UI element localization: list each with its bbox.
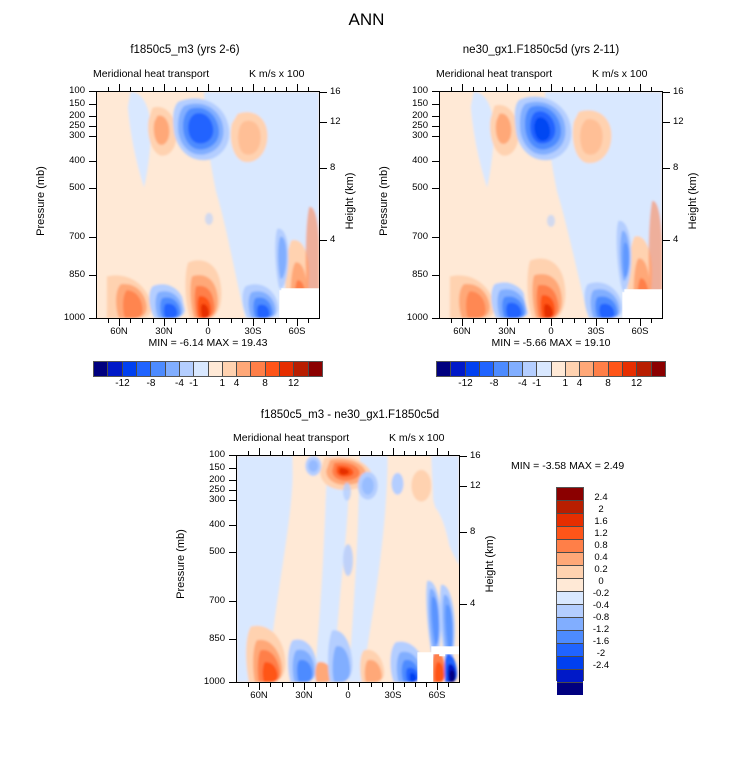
axis-tick-bottom-minor <box>651 319 652 323</box>
ytick-label-pressure: 700 <box>47 231 85 242</box>
ytick-label-pressure: 850 <box>187 633 225 644</box>
axis-tick-bottom-minor <box>585 319 586 323</box>
axis-tick-top-minor <box>473 87 474 91</box>
panel-title-bottom: f1850c5_m3 - ne30_gx1.F1850c5d <box>180 409 520 421</box>
colorbar-cell <box>523 362 537 376</box>
xtick-label-lat: 60S <box>277 326 317 337</box>
axis-tick-top-minor <box>618 87 619 91</box>
colorbar-cell <box>280 362 294 376</box>
colorbar-cell <box>466 362 480 376</box>
axis-tick-top-minor <box>629 87 630 91</box>
xtick-label-lat: 30N <box>487 326 527 337</box>
axis-tick-bottom-minor <box>404 683 405 687</box>
colorbar-cell <box>652 362 665 376</box>
ytick-mark <box>229 601 236 602</box>
colorbar-cell <box>108 362 122 376</box>
axis-tick-top-minor <box>371 451 372 455</box>
colorbar-tick-label: 2.4 <box>586 492 616 503</box>
xtick-label-lat: 60S <box>417 690 457 701</box>
axis-tick-bottom-minor <box>315 683 316 687</box>
xtick-label-lat: 30S <box>233 326 273 337</box>
ytick-mark <box>432 126 439 127</box>
axis-tick-bottom <box>551 319 552 326</box>
axis-tick-bottom-minor <box>270 683 271 687</box>
axis-tick-bottom-minor <box>382 683 383 687</box>
ytick-label-height: 12 <box>470 480 496 491</box>
ytick-mark <box>89 318 96 319</box>
ytick-mark-height <box>663 240 670 241</box>
axis-tick-top-minor <box>651 87 652 91</box>
colorbar-cell <box>557 644 583 657</box>
colorbar-tick-label: 12 <box>617 378 657 389</box>
ytick-mark-height <box>320 240 327 241</box>
axis-tick-top <box>259 448 260 455</box>
colorbar-cell <box>557 540 583 553</box>
axis-tick-bottom-minor <box>130 319 131 323</box>
colorbar-cell <box>594 362 608 376</box>
ytick-mark <box>229 500 236 501</box>
colorbar-labels-top-right: -12-8-4-114812 <box>436 378 666 392</box>
ytick-mark-height <box>460 532 467 533</box>
axis-tick-top-minor <box>562 87 563 91</box>
colorbar-cell <box>266 362 280 376</box>
axis-tick-bottom <box>259 683 260 690</box>
axis-tick-top-minor <box>308 87 309 91</box>
axis-tick-bottom-minor <box>359 683 360 687</box>
axis-tick-top-minor <box>219 87 220 91</box>
colorbar-tick-label: -2 <box>586 648 616 659</box>
axis-tick-top-minor <box>359 451 360 455</box>
axis-tick-bottom <box>119 319 120 326</box>
ytick-mark <box>432 275 439 276</box>
axis-tick-bottom <box>253 319 254 326</box>
ytick-mark <box>229 480 236 481</box>
ytick-mark <box>89 161 96 162</box>
colorbar-cell <box>557 631 583 644</box>
contour-field-top-right <box>440 92 662 318</box>
colorbar-cell <box>623 362 637 376</box>
axis-tick-bottom <box>208 319 209 326</box>
axis-tick-top <box>304 448 305 455</box>
axis-tick-bottom-minor <box>473 319 474 323</box>
colorbar-cell <box>251 362 265 376</box>
colorbar-labels-top-left: -12-8-4-114812 <box>93 378 323 392</box>
axis-tick-top <box>507 84 508 91</box>
colorbar-tick-label: 1.2 <box>586 528 616 539</box>
xtick-label-lat: 0 <box>328 690 368 701</box>
xtick-label-lat: 30N <box>284 690 324 701</box>
axis-tick-bottom <box>462 319 463 326</box>
colorbar-cell <box>557 683 583 695</box>
ytick-mark-height <box>663 92 670 93</box>
axis-tick-bottom-minor <box>562 319 563 323</box>
axis-tick-top-minor <box>485 87 486 91</box>
ytick-label-height: 4 <box>673 234 699 245</box>
axis-tick-bottom <box>348 683 349 690</box>
axis-tick-bottom-minor <box>231 319 232 323</box>
colorbar-tick-label: 0.2 <box>586 564 616 575</box>
axis-tick-top-minor <box>607 87 608 91</box>
axis-tick-top <box>297 84 298 91</box>
ytick-mark-height <box>320 168 327 169</box>
axis-tick-bottom-minor <box>142 319 143 323</box>
colorbar-cell <box>637 362 651 376</box>
axis-tick-bottom-minor <box>371 683 372 687</box>
axis-tick-bottom-minor <box>286 319 287 323</box>
ytick-mark <box>89 188 96 189</box>
panel-subtitle-variable-right: Meridional heat transport <box>436 68 552 80</box>
axis-tick-top <box>551 84 552 91</box>
ytick-mark <box>432 318 439 319</box>
xtick-label-lat: 0 <box>531 326 571 337</box>
ytick-mark-height <box>460 604 467 605</box>
colorbar-cell <box>552 362 566 376</box>
xtick-label-lat: 30S <box>373 690 413 701</box>
axis-tick-top-minor <box>264 87 265 91</box>
ytick-label-pressure: 150 <box>47 98 85 109</box>
colorbar-tick-label: 12 <box>274 378 314 389</box>
colorbar-cell <box>557 514 583 527</box>
ytick-label-pressure: 300 <box>47 130 85 141</box>
panel-subtitle-variable-left: Meridional heat transport <box>93 68 209 80</box>
axis-tick-top-minor <box>337 451 338 455</box>
colorbar-top-right[interactable] <box>436 361 666 377</box>
ytick-label-pressure: 400 <box>187 519 225 530</box>
axis-tick-top-minor <box>496 87 497 91</box>
axis-tick-top-minor <box>382 451 383 455</box>
axis-tick-top <box>208 84 209 91</box>
axis-tick-top-minor <box>326 451 327 455</box>
colorbar-tick-label: -2.4 <box>586 660 616 671</box>
axis-tick-bottom-minor <box>426 683 427 687</box>
axis-tick-top <box>348 448 349 455</box>
ytick-label-pressure: 700 <box>187 595 225 606</box>
axis-tick-top-minor <box>282 451 283 455</box>
colorbar-tick-label: 0.8 <box>586 540 616 551</box>
axis-tick-bottom-minor <box>175 319 176 323</box>
contour-field-bottom <box>237 456 459 682</box>
colorbar-cell <box>209 362 223 376</box>
ytick-label-pressure: 1000 <box>47 312 85 323</box>
ytick-mark <box>229 490 236 491</box>
xtick-label-lat: 60S <box>620 326 660 337</box>
ytick-label-pressure: 500 <box>47 182 85 193</box>
colorbar-tick-label: -0.4 <box>586 600 616 611</box>
axis-tick-bottom <box>297 319 298 326</box>
ytick-mark <box>229 468 236 469</box>
minmax-label-top-left: MIN = -6.14 MAX = 19.43 <box>96 337 320 349</box>
axis-tick-bottom-minor <box>574 319 575 323</box>
axis-tick-top-minor <box>108 87 109 91</box>
colorbar-cell <box>609 362 623 376</box>
axis-tick-bottom-minor <box>337 683 338 687</box>
colorbar-cell <box>557 501 583 514</box>
ytick-label-height: 12 <box>673 116 699 127</box>
colorbar-cell <box>557 579 583 592</box>
ytick-label-height: 8 <box>470 526 496 537</box>
axis-tick-bottom-minor <box>108 319 109 323</box>
axis-tick-bottom-minor <box>219 319 220 323</box>
axis-tick-top-minor <box>186 87 187 91</box>
colorbar-cell <box>580 362 594 376</box>
ytick-label-height: 8 <box>330 162 356 173</box>
colorbar-cell <box>137 362 151 376</box>
axis-tick-top <box>164 84 165 91</box>
axis-tick-top-minor <box>518 87 519 91</box>
ytick-label-pressure: 150 <box>187 462 225 473</box>
ytick-mark <box>229 639 236 640</box>
axis-tick-top <box>640 84 641 91</box>
axis-tick-top-minor <box>529 87 530 91</box>
ytick-mark-height <box>460 486 467 487</box>
axis-tick-bottom-minor <box>197 319 198 323</box>
colorbar-cell <box>480 362 494 376</box>
axis-tick-bottom <box>437 683 438 690</box>
ytick-label-pressure: 1000 <box>390 312 428 323</box>
contour-field-top-left <box>97 92 319 318</box>
colorbar-cell <box>223 362 237 376</box>
colorbar-cell <box>566 362 580 376</box>
ytick-label-height: 8 <box>673 162 699 173</box>
axis-tick-bottom-minor <box>293 683 294 687</box>
ytick-mark <box>432 116 439 117</box>
axis-tick-top-minor <box>175 87 176 91</box>
ytick-label-height: 16 <box>470 450 496 461</box>
axis-tick-bottom <box>164 319 165 326</box>
axis-tick-bottom-minor <box>448 683 449 687</box>
ytick-mark <box>432 161 439 162</box>
colorbar-cell <box>557 553 583 566</box>
axis-tick-top-minor <box>130 87 131 91</box>
colorbar-cell <box>194 362 208 376</box>
axis-tick-bottom-minor <box>275 319 276 323</box>
axis-tick-top-minor <box>451 87 452 91</box>
ytick-label-pressure: 1000 <box>187 676 225 687</box>
ytick-mark-height <box>663 122 670 123</box>
colorbar-tick-label: 1.6 <box>586 516 616 527</box>
axis-tick-bottom-minor <box>496 319 497 323</box>
yaxis-label-pressure-bottom: Pressure (mb) <box>175 514 187 614</box>
axis-tick-bottom-minor <box>282 683 283 687</box>
axis-tick-top-minor <box>415 451 416 455</box>
axis-tick-bottom-minor <box>618 319 619 323</box>
colorbar-cell <box>557 657 583 670</box>
ytick-mark-height <box>320 92 327 93</box>
axis-tick-top-minor <box>404 451 405 455</box>
axis-tick-bottom-minor <box>540 319 541 323</box>
axis-tick-bottom-minor <box>153 319 154 323</box>
colorbar-cell <box>94 362 108 376</box>
ytick-label-pressure: 400 <box>390 155 428 166</box>
axis-tick-bottom-minor <box>264 319 265 323</box>
ytick-mark <box>229 455 236 456</box>
colorbar-bottom-vertical[interactable] <box>556 487 584 681</box>
colorbar-cell <box>237 362 251 376</box>
colorbar-cell <box>309 362 322 376</box>
panel-top-right: ne30_gx1.F1850c5d (yrs 2-11) Meridional … <box>366 0 733 400</box>
axis-tick-top-minor <box>142 87 143 91</box>
ytick-mark <box>432 136 439 137</box>
ytick-mark-height <box>320 122 327 123</box>
panel-subtitle-variable-bottom: Meridional heat transport <box>233 432 349 444</box>
colorbar-tick-label: 2 <box>586 504 616 515</box>
colorbar-vertical-labels: 2.421.61.20.80.40.20-0.2-0.4-0.8-1.2-1.6… <box>586 487 630 679</box>
colorbar-cell <box>557 592 583 605</box>
ytick-label-pressure: 300 <box>187 494 225 505</box>
axis-tick-top <box>462 84 463 91</box>
axis-tick-bottom-minor <box>607 319 608 323</box>
ytick-mark <box>89 237 96 238</box>
colorbar-cell <box>509 362 523 376</box>
minmax-label-top-right: MIN = -5.66 MAX = 19.10 <box>439 337 663 349</box>
colorbar-cell <box>123 362 137 376</box>
axis-tick-top-minor <box>275 87 276 91</box>
colorbar-cell <box>166 362 180 376</box>
ytick-label-pressure: 500 <box>187 546 225 557</box>
axis-tick-top <box>119 84 120 91</box>
axis-tick-top-minor <box>574 87 575 91</box>
axis-tick-bottom-minor <box>518 319 519 323</box>
colorbar-cell <box>557 618 583 631</box>
xtick-label-lat: 30S <box>576 326 616 337</box>
colorbar-cell <box>151 362 165 376</box>
axis-tick-bottom <box>640 319 641 326</box>
ytick-mark <box>89 116 96 117</box>
ytick-label-height: 4 <box>330 234 356 245</box>
plot-area-bottom[interactable] <box>236 455 460 683</box>
plot-area-top-left[interactable] <box>96 91 320 319</box>
axis-tick-bottom-minor <box>629 319 630 323</box>
ytick-label-height: 12 <box>330 116 356 127</box>
ytick-mark <box>432 91 439 92</box>
colorbar-cell <box>437 362 451 376</box>
xtick-label-lat: 60N <box>99 326 139 337</box>
axis-tick-bottom <box>304 683 305 690</box>
panel-top-left: f1850c5_m3 (yrs 2-6) Meridional heat tra… <box>0 0 366 400</box>
yaxis-label-pressure-right: Pressure (mb) <box>378 151 390 251</box>
colorbar-cell <box>557 605 583 618</box>
ytick-mark <box>229 682 236 683</box>
ytick-label-pressure: 100 <box>390 85 428 96</box>
axis-tick-top-minor <box>315 451 316 455</box>
xtick-label-lat: 30N <box>144 326 184 337</box>
colorbar-cell <box>180 362 194 376</box>
panel-subtitle-units-left: K m/s x 100 <box>249 68 304 80</box>
panel-title-top-left: f1850c5_m3 (yrs 2-6) <box>40 44 330 56</box>
ytick-label-pressure: 150 <box>390 98 428 109</box>
ytick-label-pressure: 400 <box>47 155 85 166</box>
ytick-label-pressure: 850 <box>390 269 428 280</box>
colorbar-tick-label: 0 <box>586 576 616 587</box>
ytick-label-pressure: 500 <box>390 182 428 193</box>
ytick-label-pressure: 850 <box>47 269 85 280</box>
ytick-mark <box>432 104 439 105</box>
colorbar-cell <box>557 488 583 501</box>
colorbar-tick-label: 0.4 <box>586 552 616 563</box>
axis-tick-top-minor <box>286 87 287 91</box>
panel-subtitle-units-bottom: K m/s x 100 <box>389 432 444 444</box>
colorbar-cell <box>537 362 551 376</box>
ytick-mark <box>89 275 96 276</box>
plot-area-top-right[interactable] <box>439 91 663 319</box>
axis-tick-top <box>393 448 394 455</box>
yaxis-label-pressure-left: Pressure (mb) <box>35 151 47 251</box>
axis-tick-bottom-minor <box>186 319 187 323</box>
axis-tick-bottom-minor <box>242 319 243 323</box>
axis-tick-top-minor <box>540 87 541 91</box>
colorbar-top-left[interactable] <box>93 361 323 377</box>
axis-tick-top-minor <box>242 87 243 91</box>
axis-tick-top-minor <box>153 87 154 91</box>
ytick-mark <box>432 188 439 189</box>
axis-tick-top-minor <box>248 451 249 455</box>
colorbar-cell <box>451 362 465 376</box>
axis-tick-top <box>437 448 438 455</box>
ytick-mark-height <box>663 168 670 169</box>
ytick-mark <box>89 104 96 105</box>
xtick-label-lat: 0 <box>188 326 228 337</box>
colorbar-tick-label: -0.8 <box>586 612 616 623</box>
colorbar-cell <box>557 566 583 579</box>
xtick-label-lat: 60N <box>442 326 482 337</box>
ytick-label-pressure: 700 <box>390 231 428 242</box>
colorbar-tick-label: -0.2 <box>586 588 616 599</box>
axis-tick-top-minor <box>585 87 586 91</box>
colorbar-cell <box>557 527 583 540</box>
ytick-mark <box>89 126 96 127</box>
ytick-label-pressure: 300 <box>390 130 428 141</box>
axis-tick-top <box>253 84 254 91</box>
panel-bottom-diff: f1850c5_m3 - ne30_gx1.F1850c5d Meridiona… <box>0 400 733 773</box>
colorbar-cell <box>294 362 308 376</box>
axis-tick-bottom-minor <box>415 683 416 687</box>
axis-tick-bottom-minor <box>451 319 452 323</box>
colorbar-cell <box>557 670 583 683</box>
minmax-label-bottom: MIN = -3.58 MAX = 2.49 <box>511 460 624 472</box>
ytick-label-pressure: 100 <box>187 449 225 460</box>
axis-tick-top-minor <box>293 451 294 455</box>
colorbar-cell <box>494 362 508 376</box>
axis-tick-bottom-minor <box>326 683 327 687</box>
colorbar-tick-label: -1.6 <box>586 636 616 647</box>
ytick-label-pressure: 100 <box>47 85 85 96</box>
ytick-mark <box>229 552 236 553</box>
ytick-label-height: 16 <box>330 86 356 97</box>
ytick-mark <box>89 91 96 92</box>
ytick-mark <box>432 237 439 238</box>
ytick-mark-height <box>460 456 467 457</box>
axis-tick-top <box>596 84 597 91</box>
axis-tick-bottom-minor <box>485 319 486 323</box>
axis-tick-top-minor <box>426 451 427 455</box>
ytick-mark <box>89 136 96 137</box>
axis-tick-bottom <box>596 319 597 326</box>
axis-tick-top-minor <box>270 451 271 455</box>
colorbar-tick-label: -1.2 <box>586 624 616 635</box>
ytick-mark <box>229 525 236 526</box>
axis-tick-bottom-minor <box>529 319 530 323</box>
ytick-label-height: 4 <box>470 598 496 609</box>
axis-tick-bottom-minor <box>248 683 249 687</box>
axis-tick-bottom <box>507 319 508 326</box>
xtick-label-lat: 60N <box>239 690 279 701</box>
axis-tick-top-minor <box>197 87 198 91</box>
axis-tick-bottom <box>393 683 394 690</box>
axis-tick-top-minor <box>448 451 449 455</box>
ytick-label-height: 16 <box>673 86 699 97</box>
panel-title-top-right: ne30_gx1.F1850c5d (yrs 2-11) <box>391 44 691 56</box>
panel-subtitle-units-right: K m/s x 100 <box>592 68 647 80</box>
